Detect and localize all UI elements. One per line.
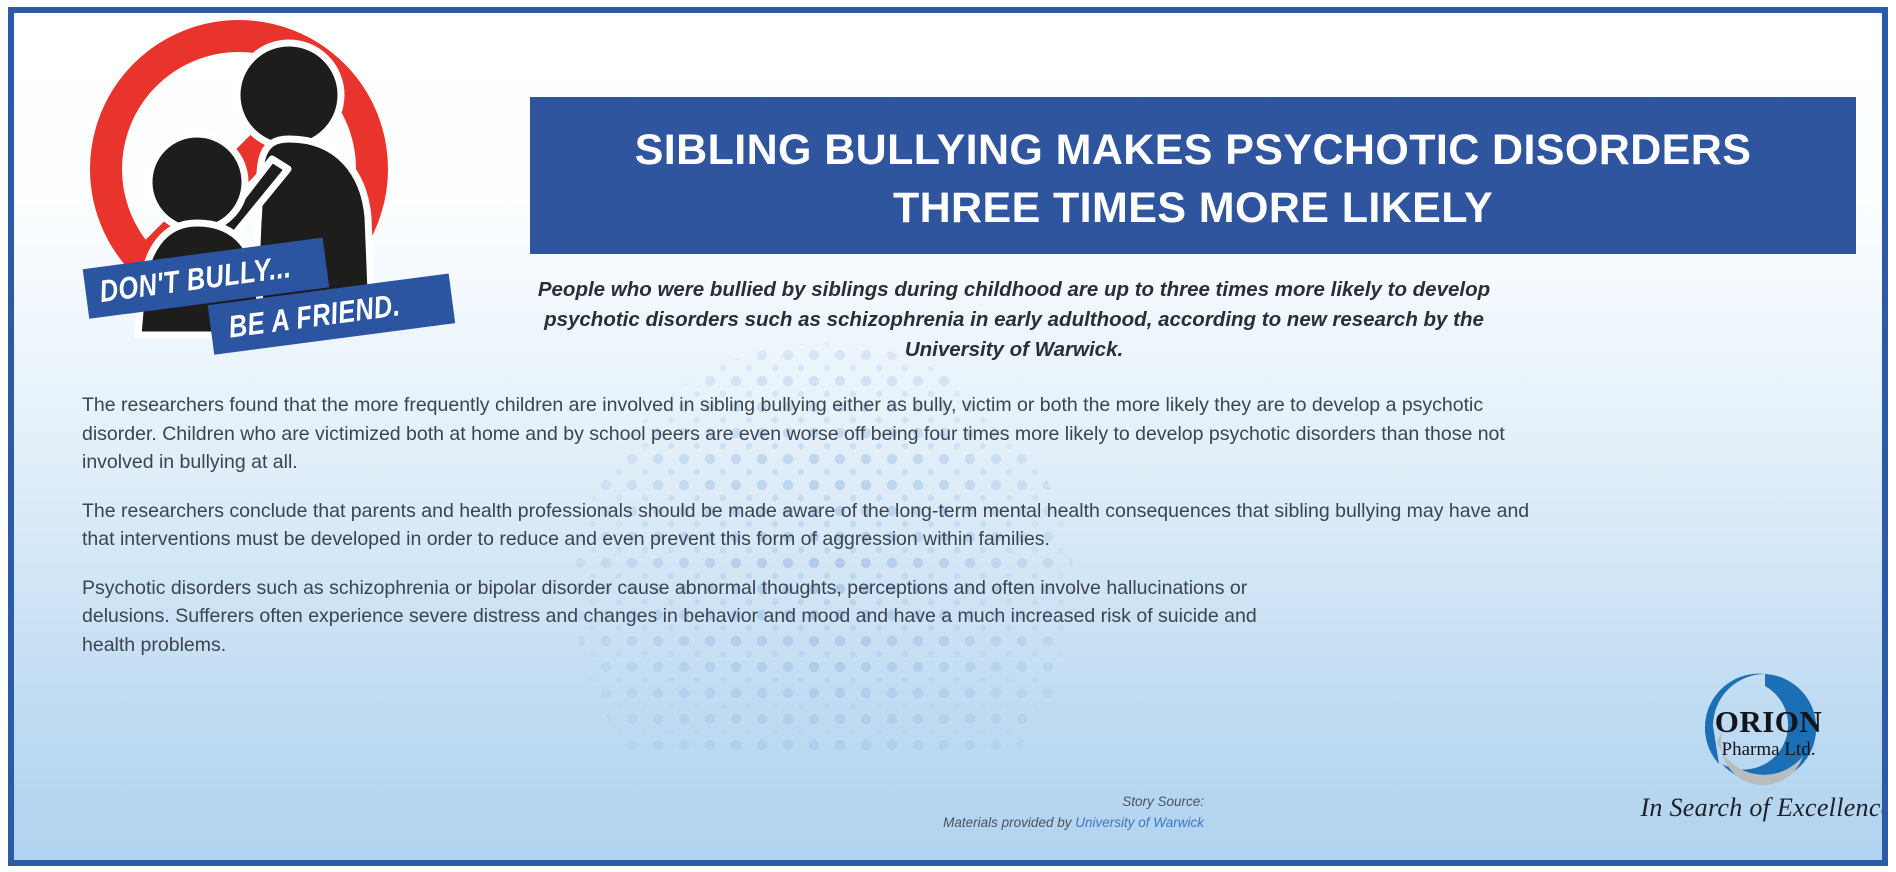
body-paragraph-1: The researchers found that the more freq… [82,391,1552,477]
poster-frame: DON'T BULLY... BE A FRIEND. SIBLING BULL… [8,7,1888,866]
orion-wordmark: ORION Pharma Ltd. [1701,706,1836,761]
headline-line-1: SIBLING BULLYING MAKES PSYCHOTIC DISORDE… [635,121,1752,179]
body-paragraph-3: Psychotic disorders such as schizophreni… [82,574,1297,660]
body-copy: The researchers found that the more freq… [82,391,1552,659]
headline-banner: SIBLING BULLYING MAKES PSYCHOTIC DISORDE… [530,97,1856,254]
headline-line-2: THREE TIMES MORE LIKELY [893,179,1493,237]
story-source-credit-prefix: Materials provided by [943,815,1075,830]
story-source-link[interactable]: University of Warwick [1075,815,1204,830]
orion-subtitle: Pharma Ltd. [1701,738,1836,761]
body-paragraph-2: The researchers conclude that parents an… [82,497,1552,554]
lede-paragraph: People who were bullied by siblings duri… [534,275,1494,365]
story-source-credit: Materials provided by University of Warw… [844,812,1204,833]
poster-root: DON'T BULLY... BE A FRIEND. SIBLING BULL… [0,0,1896,872]
story-source-label: Story Source: [844,791,1204,812]
story-source: Story Source: Materials provided by Univ… [844,791,1204,833]
orion-tagline: In Search of Excellence [1629,793,1888,823]
orion-logo: ORION Pharma Ltd. In Search of Excellenc… [1639,668,1888,848]
orion-name: ORION [1701,706,1836,738]
